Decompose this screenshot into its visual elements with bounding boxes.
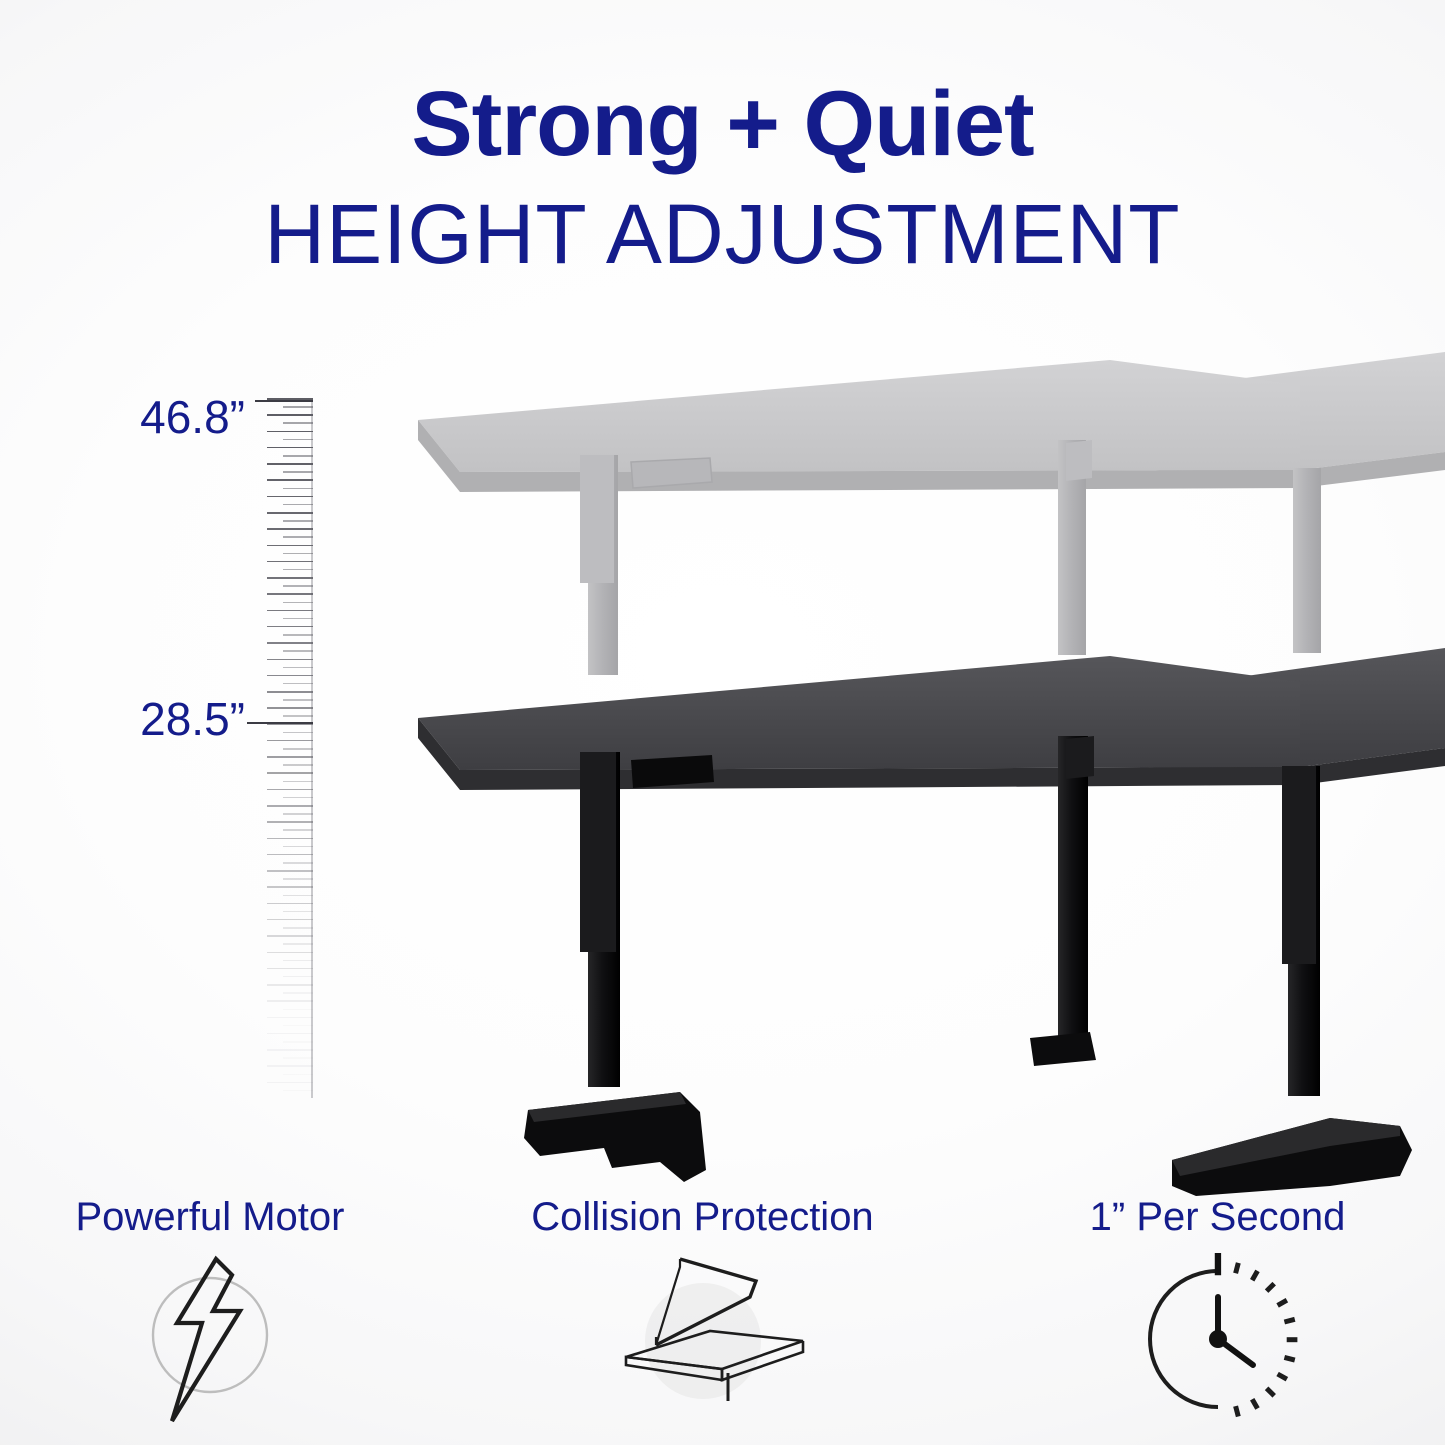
ruler-tick bbox=[267, 805, 313, 807]
ruler-tick bbox=[267, 789, 313, 791]
ruler-tick bbox=[283, 602, 313, 604]
ruler-tick bbox=[267, 447, 313, 449]
ruler-tick bbox=[283, 732, 313, 734]
ruler-tick bbox=[267, 545, 313, 547]
ruler-tick bbox=[267, 691, 313, 693]
ruler-measure-line bbox=[247, 722, 313, 724]
ruler-tick bbox=[283, 699, 313, 701]
ruler-tick bbox=[267, 659, 313, 661]
ruler-tick bbox=[283, 422, 313, 424]
ruler-tick bbox=[283, 667, 313, 669]
ruler-tick bbox=[283, 797, 313, 799]
ruler-tick bbox=[283, 455, 313, 457]
ruler-tick bbox=[267, 968, 313, 970]
ruler-tick bbox=[283, 764, 313, 766]
ruler-tick bbox=[283, 406, 313, 408]
ruler-tick bbox=[267, 903, 313, 905]
ruler-tick bbox=[267, 1049, 313, 1051]
infographic-canvas: Strong + Quiet HEIGHT ADJUSTMENT bbox=[0, 0, 1445, 1445]
ruler-tick bbox=[283, 829, 313, 831]
ruler-tick bbox=[283, 504, 313, 506]
ruler-tick bbox=[283, 553, 313, 555]
lightning-bolt-icon bbox=[120, 1253, 300, 1428]
ruler-tick bbox=[283, 1074, 313, 1076]
raised-desk-ghost bbox=[418, 352, 1445, 675]
feature-label: Powerful Motor bbox=[0, 1195, 420, 1240]
ruler-tick bbox=[267, 821, 313, 823]
ruler-tick bbox=[267, 463, 313, 465]
ruler-tick bbox=[267, 479, 313, 481]
ruler-tick bbox=[267, 561, 313, 563]
ruler-tick bbox=[283, 1090, 313, 1092]
ruler-tick bbox=[283, 634, 313, 636]
ruler-tick bbox=[267, 642, 313, 644]
ruler-tick bbox=[283, 927, 313, 929]
ruler-tick bbox=[267, 1017, 313, 1019]
ruler-tick bbox=[267, 886, 313, 888]
ruler-tick bbox=[283, 976, 313, 978]
ruler-tick bbox=[283, 520, 313, 522]
ruler-tick bbox=[267, 1000, 313, 1002]
ruler-tick bbox=[267, 772, 313, 774]
ruler-tick bbox=[267, 431, 313, 433]
ruler-tick bbox=[283, 1025, 313, 1027]
ruler-measure-line bbox=[255, 400, 313, 402]
ruler-tick bbox=[283, 585, 313, 587]
min-height-label: 28.5” bbox=[55, 692, 245, 746]
ruler-tick bbox=[267, 870, 313, 872]
ruler-tick bbox=[267, 756, 313, 758]
ruler-tick bbox=[283, 618, 313, 620]
ruler-tick bbox=[267, 414, 313, 416]
lowered-desk bbox=[418, 648, 1445, 1196]
feature-collision-protection: Collision Protection bbox=[465, 1195, 940, 1445]
ruler-tick bbox=[283, 846, 313, 848]
ruler-tick bbox=[283, 1009, 313, 1011]
ruler-tick bbox=[283, 895, 313, 897]
ruler-tick bbox=[283, 715, 313, 717]
ruler-tick bbox=[283, 439, 313, 441]
ruler-tick bbox=[283, 1057, 313, 1059]
ruler-tick bbox=[267, 740, 313, 742]
ruler-tick bbox=[267, 1082, 313, 1084]
ruler-tick bbox=[267, 577, 313, 579]
ruler-tick bbox=[267, 854, 313, 856]
ruler-tick bbox=[283, 992, 313, 994]
ruler-tick bbox=[267, 626, 313, 628]
ruler-tick bbox=[283, 862, 313, 864]
feature-label: Collision Protection bbox=[465, 1195, 940, 1240]
ruler-tick bbox=[267, 952, 313, 954]
ruler-tick bbox=[283, 683, 313, 685]
clock-icon: T bbox=[1123, 1253, 1313, 1435]
ruler-tick bbox=[283, 878, 313, 880]
feature-label: 1” Per Second bbox=[990, 1195, 1445, 1240]
ruler-tick bbox=[267, 919, 313, 921]
ruler-tick bbox=[267, 1033, 313, 1035]
ruler-tick bbox=[267, 675, 313, 677]
ruler-tick bbox=[283, 943, 313, 945]
ruler-tick bbox=[267, 593, 313, 595]
ruler-tick bbox=[267, 496, 313, 498]
svg-text:T: T bbox=[1204, 1253, 1231, 1285]
ruler-tick bbox=[267, 1065, 313, 1067]
feature-powerful-motor: Powerful Motor bbox=[0, 1195, 420, 1445]
feature-speed: 1” Per Second T bbox=[990, 1195, 1445, 1445]
ruler-tick bbox=[283, 650, 313, 652]
ruler-tick bbox=[267, 528, 313, 530]
ruler-tick bbox=[283, 488, 313, 490]
desk-collision-icon bbox=[598, 1253, 808, 1428]
ruler-tick bbox=[283, 471, 313, 473]
ruler-tick bbox=[283, 1041, 313, 1043]
height-ruler bbox=[255, 398, 313, 1098]
max-height-label: 46.8” bbox=[55, 390, 245, 444]
ruler-tick bbox=[283, 911, 313, 913]
ruler-tick bbox=[267, 984, 313, 986]
ruler-tick bbox=[267, 512, 313, 514]
ruler-tick bbox=[267, 707, 313, 709]
ruler-tick bbox=[283, 813, 313, 815]
ruler-tick bbox=[283, 536, 313, 538]
ruler-tick bbox=[267, 935, 313, 937]
ruler-tick bbox=[283, 748, 313, 750]
ruler-tick bbox=[267, 610, 313, 612]
ruler-tick bbox=[283, 781, 313, 783]
ruler-tick bbox=[283, 569, 313, 571]
ruler-tick bbox=[283, 960, 313, 962]
ruler-tick bbox=[267, 838, 313, 840]
product-illustration bbox=[0, 0, 1445, 1210]
